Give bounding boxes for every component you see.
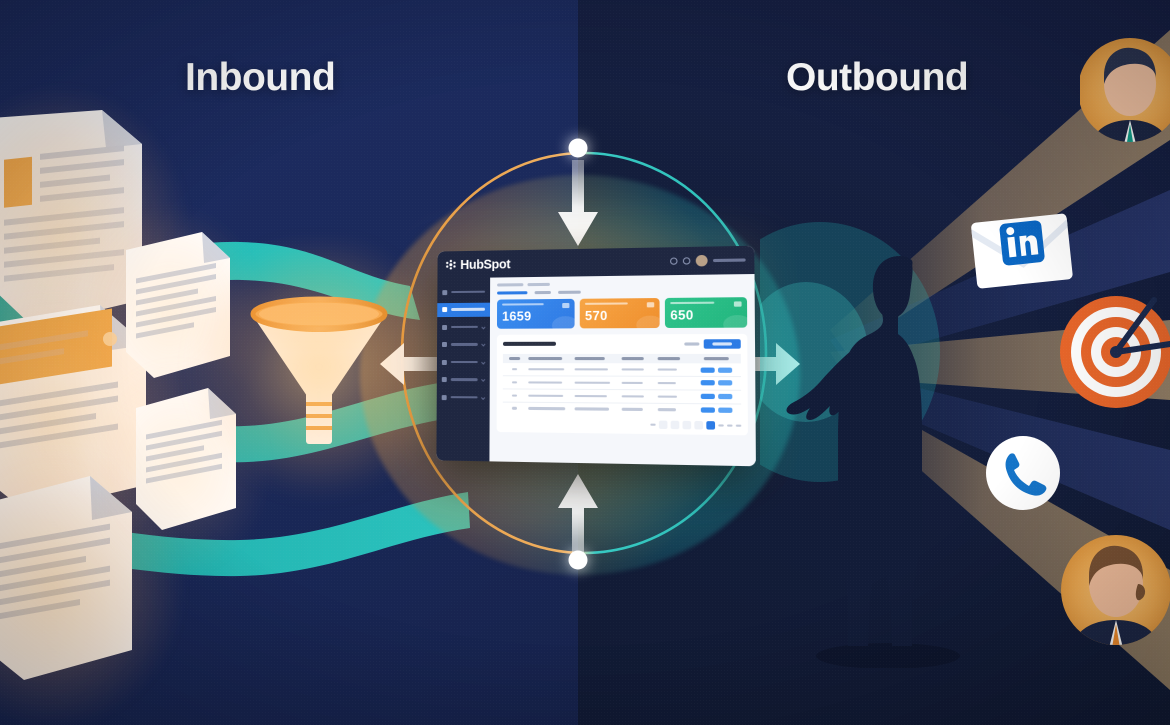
account-name-placeholder [713,258,746,262]
row-action-edit[interactable] [701,381,715,386]
tab-2[interactable] [558,290,581,293]
menu-icon [442,395,447,400]
sidebar-item-6[interactable] [437,390,490,404]
column-header [692,354,741,364]
arrow-down-icon [556,160,600,248]
hubspot-logo[interactable]: HubSpot [445,257,510,272]
hubspot-sprocket-icon [445,259,456,270]
menu-icon [442,290,447,295]
column-header [655,354,691,364]
sidebar-item-3[interactable] [437,337,490,351]
column-header [572,354,619,364]
row-action-edit[interactable] [700,367,714,372]
stat-card-0[interactable]: 1659 [497,298,575,328]
dashboard-content: 1659 570 650 [489,274,755,466]
target-dart-icon [1058,294,1170,410]
column-header [526,354,572,364]
dashboard-topbar: HubSpot [437,246,754,279]
table-row[interactable] [503,363,741,376]
avatar-top [1080,32,1170,160]
chart-icon [562,303,569,308]
page-next[interactable] [736,425,742,427]
chevron-down-icon [481,378,485,382]
row-action-edit[interactable] [701,407,715,412]
hubspot-dashboard-window[interactable]: HubSpot [436,246,756,467]
orbit-node-top [569,139,588,158]
row-action-view[interactable] [718,394,732,399]
salesperson-silhouette [782,248,982,668]
cloud-icon [647,302,654,307]
menu-icon [442,377,447,382]
dashboard-tabs [497,288,747,294]
column-header [503,354,526,364]
sidebar-item-2[interactable] [437,320,490,334]
heading-outbound: Outbound [786,58,968,97]
infographic-canvas: HubSpot [0,0,1170,725]
hubspot-wordmark: HubSpot [460,257,510,272]
linkedin-email-icon [968,206,1076,298]
chevron-down-icon [481,395,485,399]
funnel-icon [243,292,395,452]
dashboard-sidebar [436,278,490,462]
stat-card-1[interactable]: 570 [580,298,660,329]
page-item[interactable] [718,425,723,427]
page-item[interactable] [727,425,732,427]
pagination [503,414,742,430]
table-header-row [503,354,741,364]
avatar[interactable] [696,255,708,267]
row-action-edit[interactable] [701,394,715,399]
row-action-view[interactable] [718,381,732,386]
arrow-up-icon [556,472,600,560]
data-table [503,354,741,417]
page-item[interactable] [659,421,668,429]
menu-icon [442,360,447,365]
page-item-current[interactable] [706,422,715,431]
phone-call-icon [984,434,1062,512]
row-action-view[interactable] [718,408,732,413]
notifications-icon[interactable] [683,257,691,264]
tab-1[interactable] [535,291,551,294]
sidebar-item-5[interactable] [437,372,490,386]
stat-cards: 1659 570 650 [497,297,747,329]
data-table-panel [497,334,748,436]
tab-0[interactable] [497,291,527,294]
sidebar-item-1[interactable] [437,302,490,316]
panel-title [503,342,556,346]
menu-icon [442,325,447,330]
menu-icon [442,342,447,347]
page-item[interactable] [682,421,691,429]
send-icon [734,301,742,306]
chevron-down-icon [481,342,485,346]
chevron-down-icon [481,325,485,329]
page-item[interactable] [671,421,680,429]
avatar-bottom [1060,528,1170,660]
panel-meta [684,343,699,346]
page-prev[interactable] [650,424,655,426]
search-icon[interactable] [670,257,678,264]
sidebar-item-0[interactable] [437,285,490,300]
sidebar-item-4[interactable] [437,355,490,369]
page-item[interactable] [694,421,703,430]
column-header [619,354,655,364]
row-action-view[interactable] [718,367,732,372]
heading-inbound: Inbound [185,58,335,97]
menu-icon [442,307,447,312]
stat-card-2[interactable]: 650 [665,297,747,328]
primary-action-button[interactable] [704,339,741,349]
chevron-down-icon [481,360,485,364]
breadcrumb [497,280,747,286]
